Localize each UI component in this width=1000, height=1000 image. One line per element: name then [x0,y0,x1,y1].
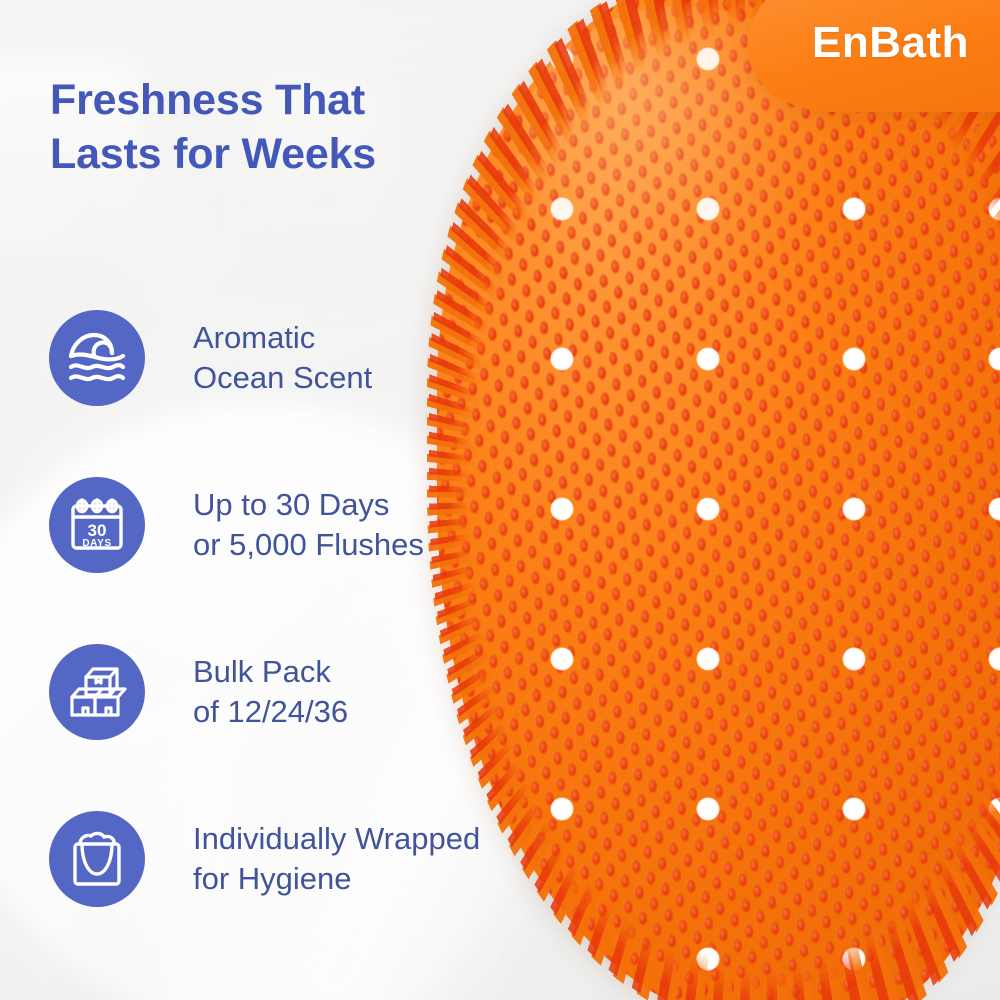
calendar-30-days-icon: 30 DAYS [49,477,145,573]
feature-item-ocean-scent: Aromatic Ocean Scent [49,274,609,441]
wrapped-package-icon [49,811,145,907]
feature-line-2: Ocean Scent [193,358,372,398]
page-title: Freshness That Lasts for Weeks [50,73,480,181]
headline-line-2: Lasts for Weeks [50,127,480,181]
product-feature-banner: EnBath Freshness That Lasts for Weeks Ar… [0,0,1000,1000]
feature-list: Aromatic Ocean Scent 30 DAYS Up to 30 Da… [49,274,609,942]
feature-line-2: for Hygiene [193,859,480,899]
stacked-boxes-icon [49,644,145,740]
feature-line-1: Up to 30 Days [193,485,424,525]
feature-label-30-days: Up to 30 Days or 5,000 Flushes [193,485,424,564]
brand-logo: EnBath [812,18,969,68]
calendar-icon-unit: DAYS [82,538,111,549]
feature-line-1: Aromatic [193,318,372,358]
feature-line-1: Individually Wrapped [193,819,480,859]
feature-line-1: Bulk Pack [193,652,348,692]
feature-label-ocean-scent: Aromatic Ocean Scent [193,318,372,397]
headline-line-1: Freshness That [50,76,365,124]
feature-item-individually-wrapped: Individually Wrapped for Hygiene [49,775,609,942]
ocean-wave-icon [49,310,145,406]
feature-item-30-days: 30 DAYS Up to 30 Days or 5,000 Flushes [49,441,609,608]
feature-line-2: of 12/24/36 [193,692,348,732]
feature-label-individually-wrapped: Individually Wrapped for Hygiene [193,819,480,898]
feature-item-bulk-pack: Bulk Pack of 12/24/36 [49,608,609,775]
feature-label-bulk-pack: Bulk Pack of 12/24/36 [193,652,348,731]
feature-line-2: or 5,000 Flushes [193,525,424,565]
